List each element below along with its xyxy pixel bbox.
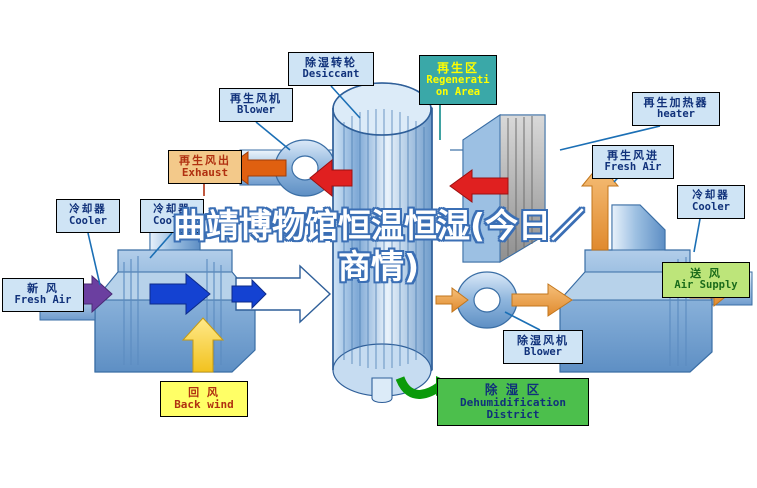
label-exhaust-air: 再生风出Exhaust xyxy=(168,150,242,184)
label-desiccant-wheel: 除湿转轮Desiccant xyxy=(288,52,374,86)
overlay-watermark: 曲靖博物馆恒温恒湿(今日／ 商情) xyxy=(0,205,757,287)
diagram-canvas: 除湿转轮Desiccant再生区Regenerati on Area再生风机Bl… xyxy=(0,0,757,488)
label-regeneration-heater: 再生加热器heater xyxy=(632,92,720,126)
label-en: Dehumidification District xyxy=(460,397,566,422)
label-en: Fresh Air xyxy=(605,162,662,174)
overlay-line-1: 曲靖博物馆恒温恒湿(今日／ xyxy=(0,205,757,246)
label-cn: 除 湿 区 xyxy=(485,383,541,397)
label-en: Regenerati on Area xyxy=(426,75,489,99)
label-en: heater xyxy=(657,109,695,121)
label-cn: 再生区 xyxy=(437,62,479,75)
label-dehumidifying-blower: 除湿风机Blower xyxy=(503,330,583,364)
label-en: Fresh Air xyxy=(15,295,72,307)
label-en: Exhaust xyxy=(182,167,228,179)
label-en: Blower xyxy=(237,105,275,117)
label-fresh-air-regen-inlet: 再生风进Fresh Air xyxy=(592,145,674,179)
label-dehumidification-district: 除 湿 区Dehumidification District xyxy=(437,378,589,426)
label-back-wind: 回 风Back wind xyxy=(160,381,248,417)
label-regeneration-area: 再生区Regenerati on Area xyxy=(419,55,497,105)
label-en: Back wind xyxy=(174,399,234,411)
label-en: Desiccant xyxy=(303,69,360,81)
label-regeneration-blower: 再生风机Blower xyxy=(219,88,293,122)
overlay-line-2: 商情) xyxy=(0,246,757,287)
label-en: Blower xyxy=(524,347,562,359)
